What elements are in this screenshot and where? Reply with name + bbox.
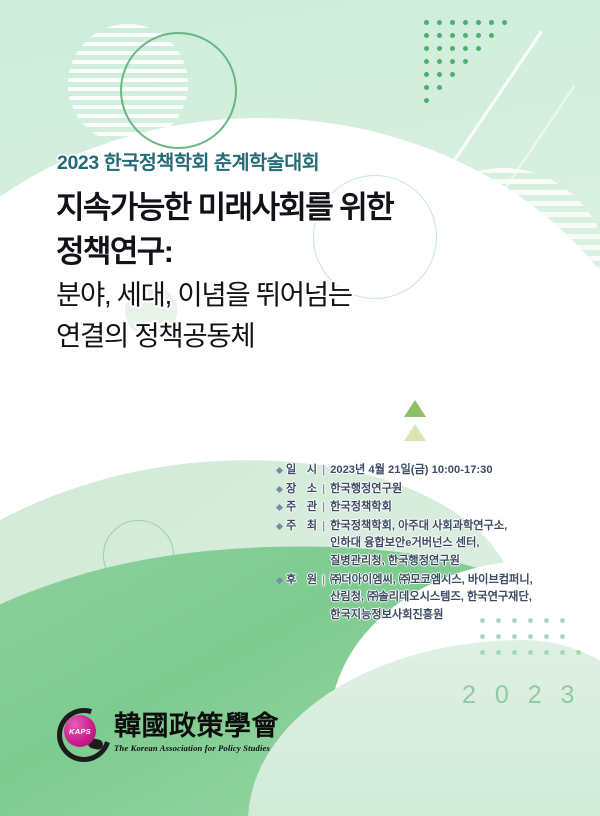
- event-detail-value-extra: 인하대 융합보안e거버넌스 센터,: [330, 535, 533, 553]
- decorative-dot-icon: [424, 85, 429, 90]
- diamond-bullet-icon: [276, 486, 283, 493]
- decorative-dot-icon: [496, 650, 501, 655]
- decorative-dot-icon: [544, 618, 549, 623]
- title-line-2: 정책연구:: [56, 230, 526, 274]
- event-detail-value-extra: 한국지능정보사회진흥원: [330, 607, 533, 625]
- poster-subtitle: 2023 한국정책학회 춘계학술대회: [57, 146, 319, 175]
- event-detail-label: 주최: [286, 518, 317, 536]
- year-badge: 2 0 2 3: [462, 681, 580, 710]
- logo-kaps-text: KAPS: [69, 727, 91, 736]
- decorative-dot-icon: [437, 20, 442, 25]
- event-detail-label: 주관: [286, 499, 317, 517]
- decorative-dot-icon: [489, 33, 494, 38]
- triangle-up-dark-icon: [404, 400, 426, 417]
- pale-green-lobe: [248, 640, 600, 816]
- decorative-dot-icon: [437, 85, 442, 90]
- triangle-up-light-icon: [404, 424, 426, 441]
- logo-wordmark: 韓國政策學會 The Korean Association for Policy…: [114, 712, 279, 753]
- decorative-dot-icon: [450, 33, 455, 38]
- decorative-dot-icon: [463, 20, 468, 25]
- event-detail-row: 주관|한국정책학회: [277, 499, 533, 517]
- striped-disc-icon: [68, 24, 188, 144]
- kaps-logo-mark-icon: KAPS: [55, 706, 107, 758]
- event-detail-row: 후원|㈜더아이엠씨, ㈜모코엠시스, 바이브컴퍼니,산림청, ㈜솔리데오시스템즈…: [277, 572, 533, 625]
- decorative-dot-icon: [528, 634, 533, 639]
- decorative-dot-icon: [424, 20, 429, 25]
- decorative-dot-icon: [437, 72, 442, 77]
- decorative-dot-icon: [560, 618, 565, 623]
- decorative-dot-icon: [437, 59, 442, 64]
- label-separator: |: [322, 462, 325, 480]
- decorative-dot-icon: [544, 634, 549, 639]
- decorative-dot-icon: [560, 634, 565, 639]
- decorative-dot-icon: [544, 650, 549, 655]
- decorative-dot-icon: [450, 46, 455, 51]
- event-detail-row: 주최|한국정책학회, 아주대 사회과학연구소,인하대 융합보안e거버넌스 센터,…: [277, 518, 533, 571]
- event-detail-label: 후원: [286, 572, 317, 590]
- decorative-dot-icon: [437, 46, 442, 51]
- logo-hanja-text: 韓國政策學會: [114, 712, 279, 742]
- label-separator: |: [322, 499, 325, 517]
- event-detail-value: 한국행정연구원: [330, 481, 533, 499]
- conference-poster: 2023 한국정책학회 춘계학술대회 지속가능한 미래사회를 위한정책연구:분야…: [0, 0, 600, 816]
- diamond-bullet-icon: [276, 523, 283, 530]
- title-line-1: 지속가능한 미래사회를 위한: [56, 186, 526, 230]
- logo-english-text: The Korean Association for Policy Studie…: [114, 743, 279, 753]
- event-detail-value: 2023년 4월 21일(금) 10:00-17:30: [330, 462, 533, 480]
- decorative-dot-icon: [424, 72, 429, 77]
- decorative-dot-icon: [437, 33, 442, 38]
- event-detail-value: 한국정책학회: [330, 499, 533, 517]
- decorative-dot-icon: [489, 20, 494, 25]
- logo-magenta-circle-icon: KAPS: [64, 715, 96, 747]
- event-detail-label: 장소: [286, 481, 317, 499]
- event-detail-row: 일시|2023년 4월 21일(금) 10:00-17:30: [277, 462, 533, 480]
- event-detail-value-extra: 산림청, ㈜솔리데오시스템즈, 한국연구재단,: [330, 589, 533, 607]
- event-details-list: 일시|2023년 4월 21일(금) 10:00-17:30장소|한국행정연구원…: [277, 462, 533, 625]
- decorative-dot-icon: [463, 59, 468, 64]
- title-line-4: 연결의 정책공동체: [56, 315, 526, 356]
- decorative-dot-icon: [512, 634, 517, 639]
- decorative-dot-icon: [560, 650, 565, 655]
- label-separator: |: [322, 518, 325, 536]
- kaps-logo: KAPS 韓國政策學會 The Korean Association for P…: [55, 706, 279, 758]
- event-detail-label: 일시: [286, 462, 317, 480]
- diamond-bullet-icon: [276, 467, 283, 474]
- decorative-dot-icon: [512, 650, 517, 655]
- event-detail-row: 장소|한국행정연구원: [277, 481, 533, 499]
- diamond-bullet-icon: [276, 577, 283, 584]
- decorative-dot-icon: [424, 98, 429, 103]
- decorative-dot-icon: [463, 33, 468, 38]
- decorative-dot-icon: [450, 20, 455, 25]
- decorative-dot-icon: [476, 46, 481, 51]
- decorative-dot-icon: [476, 33, 481, 38]
- event-detail-value-extra: 질병관리청, 한국행정연구원: [330, 553, 533, 571]
- event-detail-value: ㈜더아이엠씨, ㈜모코엠시스, 바이브컴퍼니,산림청, ㈜솔리데오시스템즈, 한…: [330, 572, 533, 625]
- decorative-dot-icon: [528, 650, 533, 655]
- label-separator: |: [322, 481, 325, 499]
- decorative-dot-icon: [450, 59, 455, 64]
- title-line-3: 분야, 세대, 이념을 뛰어넘는: [56, 274, 526, 315]
- decorative-dot-icon: [450, 72, 455, 77]
- label-separator: |: [322, 572, 325, 590]
- circle-outline-icon: [103, 520, 174, 591]
- decorative-dot-icon: [480, 650, 485, 655]
- event-detail-value: 한국정책학회, 아주대 사회과학연구소,인하대 융합보안e거버넌스 센터,질병관…: [330, 518, 533, 571]
- decorative-dot-icon: [463, 46, 468, 51]
- decorative-dot-icon: [476, 20, 481, 25]
- decorative-dot-icon: [576, 650, 581, 655]
- decorative-dot-icon: [424, 33, 429, 38]
- circle-outline-icon: [120, 32, 237, 149]
- decorative-dot-icon: [502, 20, 507, 25]
- diamond-bullet-icon: [276, 504, 283, 511]
- poster-title: 지속가능한 미래사회를 위한정책연구:분야, 세대, 이념을 뛰어넘는연결의 정…: [56, 186, 526, 356]
- decorative-dot-icon: [424, 59, 429, 64]
- decorative-dot-icon: [480, 634, 485, 639]
- decorative-dot-icon: [424, 46, 429, 51]
- decorative-dot-icon: [496, 634, 501, 639]
